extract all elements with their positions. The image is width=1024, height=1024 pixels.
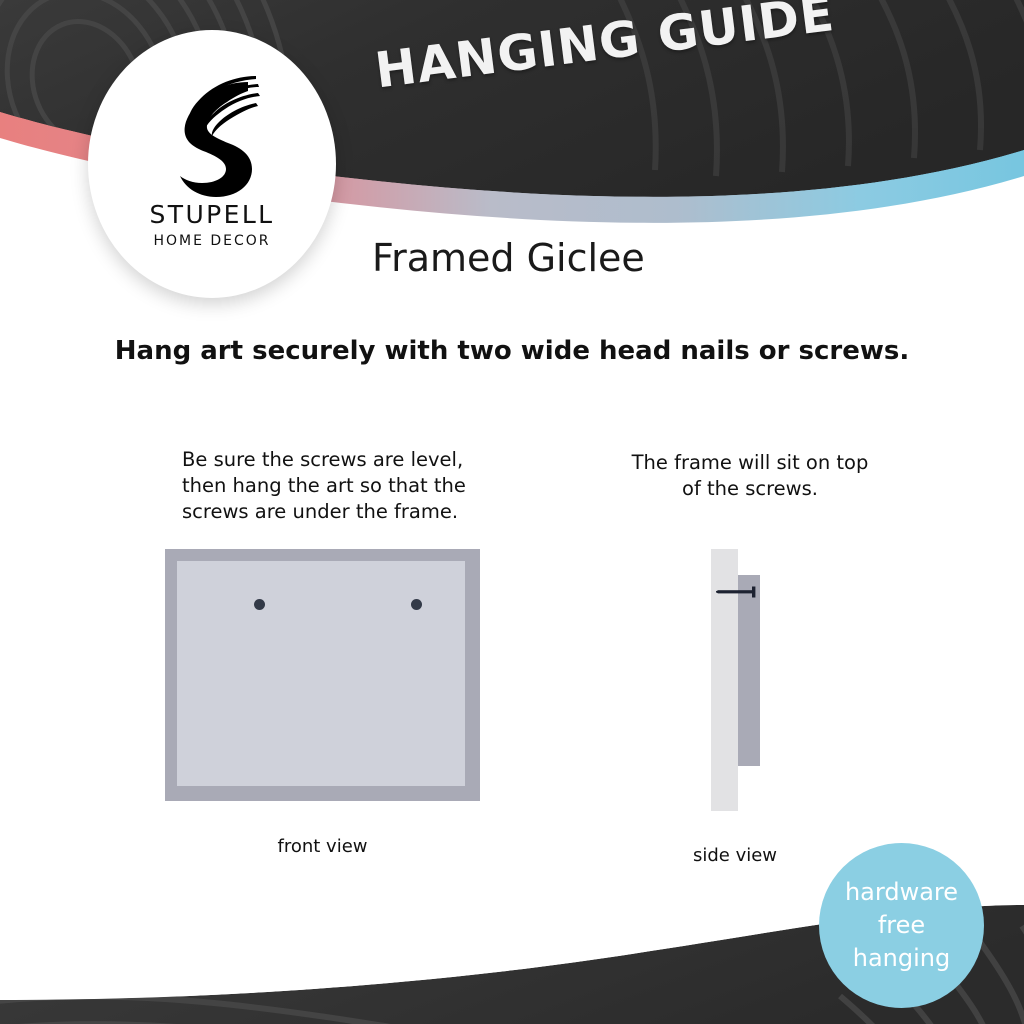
front-instruction-line-1: Be sure the screws are level, <box>182 447 482 473</box>
side-view-instructions: The frame will sit on top of the screws. <box>600 450 900 502</box>
front-instruction-line-2: then hang the art so that the <box>182 473 482 499</box>
side-instruction-line-1: The frame will sit on top <box>600 450 900 476</box>
brand-name: STUPELL <box>150 202 275 227</box>
screw-dot-icon <box>411 599 422 610</box>
badge-line-2: free <box>878 909 925 942</box>
side-instruction-line-2: of the screws. <box>600 476 900 502</box>
nail-icon <box>716 586 758 598</box>
side-view-label: side view <box>655 845 815 866</box>
front-view-instructions: Be sure the screws are level, then hang … <box>182 447 482 525</box>
front-view-label: front view <box>165 836 480 857</box>
frame-bar-icon <box>738 575 760 766</box>
brand-tagline: HOME DECOR <box>153 234 270 248</box>
stupell-s-swirl-icon <box>152 58 272 198</box>
product-type-label: Framed Giclee <box>372 236 645 280</box>
front-view-frame-diagram <box>165 549 480 801</box>
front-instruction-line-3: screws are under the frame. <box>182 499 482 525</box>
lead-instruction: Hang art securely with two wide head nai… <box>0 336 1024 366</box>
page-title: HANGING GUIDE <box>372 0 838 100</box>
hardware-free-hanging-badge: hardware free hanging <box>819 843 984 1008</box>
badge-line-1: hardware <box>845 876 958 909</box>
screw-dot-icon <box>254 599 265 610</box>
badge-line-3: hanging <box>853 942 950 975</box>
front-view-artwork-area <box>177 561 465 786</box>
hanging-guide-page: STUPELL HOME DECOR HANGING GUIDE Framed … <box>0 0 1024 1024</box>
brand-logo-badge: STUPELL HOME DECOR <box>88 30 336 298</box>
